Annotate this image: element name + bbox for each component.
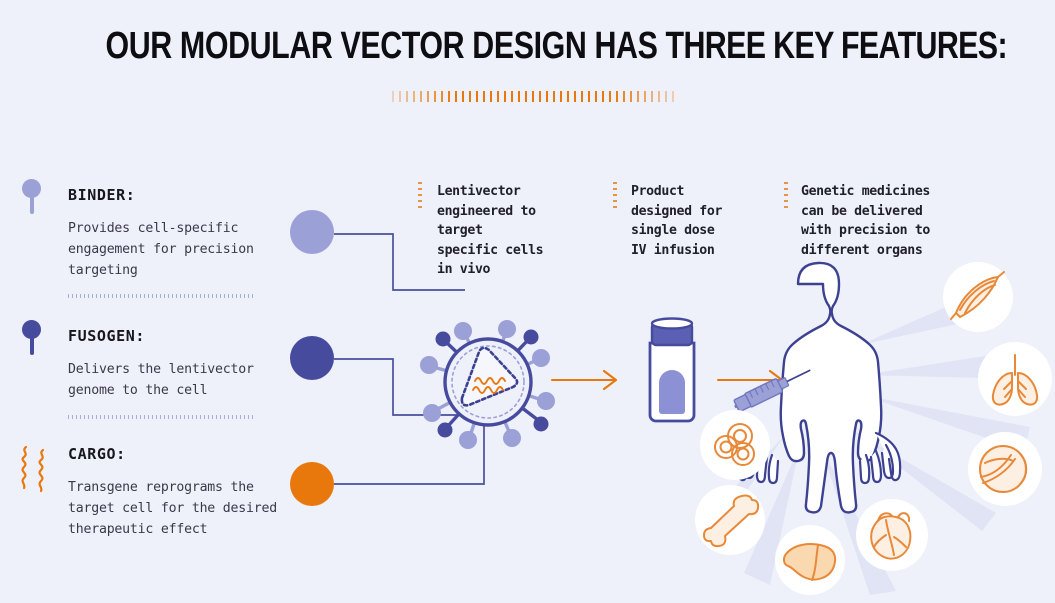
infographic-canvas: OUR MODULAR VECTOR DESIGN HAS THREE KEY …	[0, 0, 1055, 603]
fusogen-node-circle	[290, 336, 334, 380]
eye-organ-badge	[968, 432, 1042, 506]
muscle-organ-badge	[943, 262, 1013, 332]
bone-organ-badge	[695, 485, 765, 555]
patient-delivery-diagram	[700, 255, 1055, 603]
heart-organ-badge	[856, 499, 928, 571]
cells-organ-badge	[700, 410, 770, 480]
arrow-vector-to-vial-icon	[552, 368, 624, 392]
lentivector-particle-icon	[418, 312, 558, 452]
lungs-organ-badge	[978, 342, 1052, 416]
binder-node-circle	[290, 210, 334, 254]
liver-organ-badge	[775, 525, 845, 595]
cargo-node-circle	[290, 462, 334, 506]
